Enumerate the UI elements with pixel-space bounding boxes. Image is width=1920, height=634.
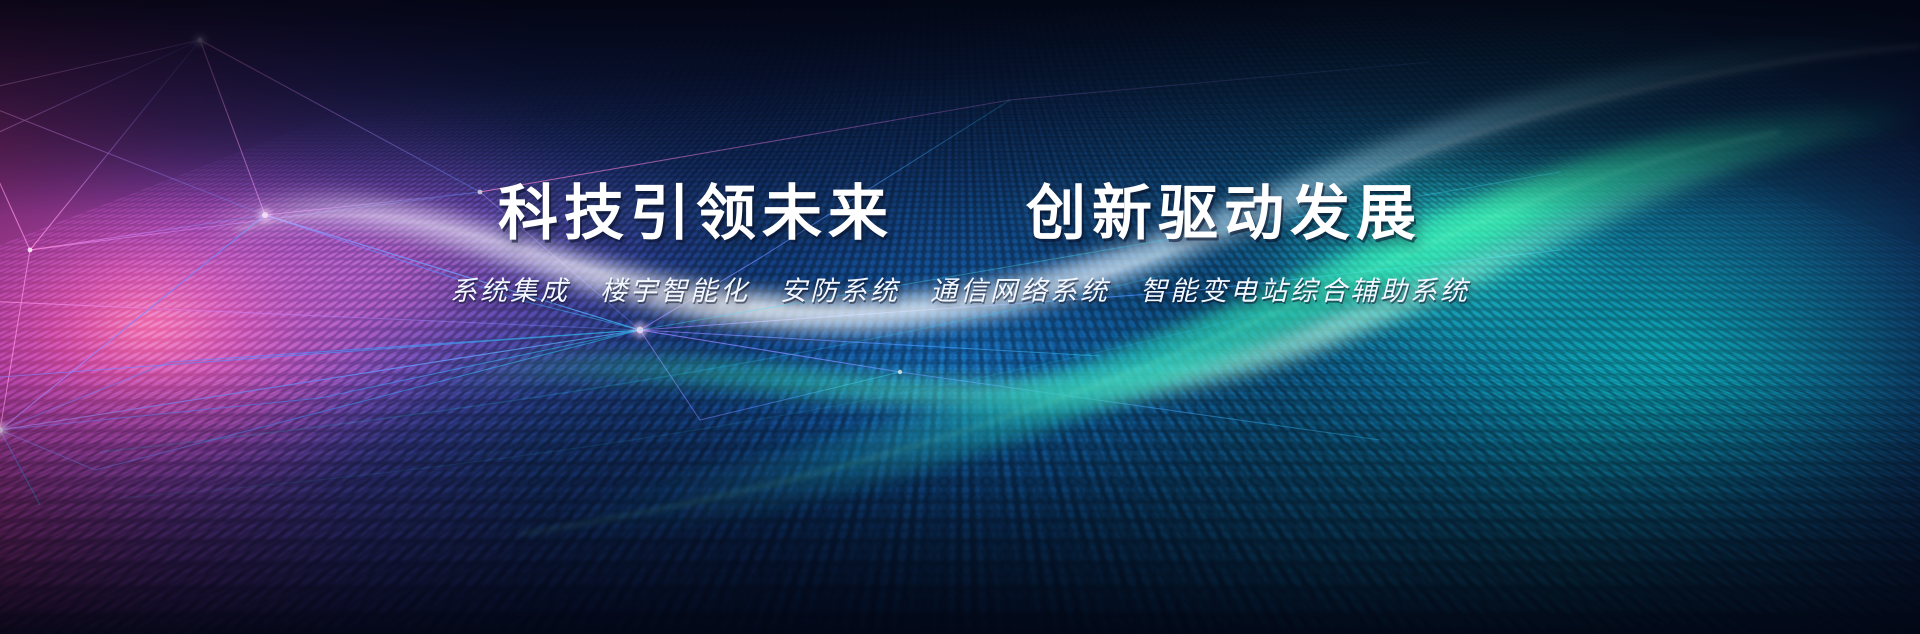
- bottom-vignette: [0, 0, 1920, 634]
- hero-banner: 科技引领未来 创新驱动发展 系统集成 楼宇智能化 安防系统 通信网络系统 智能变…: [0, 0, 1920, 634]
